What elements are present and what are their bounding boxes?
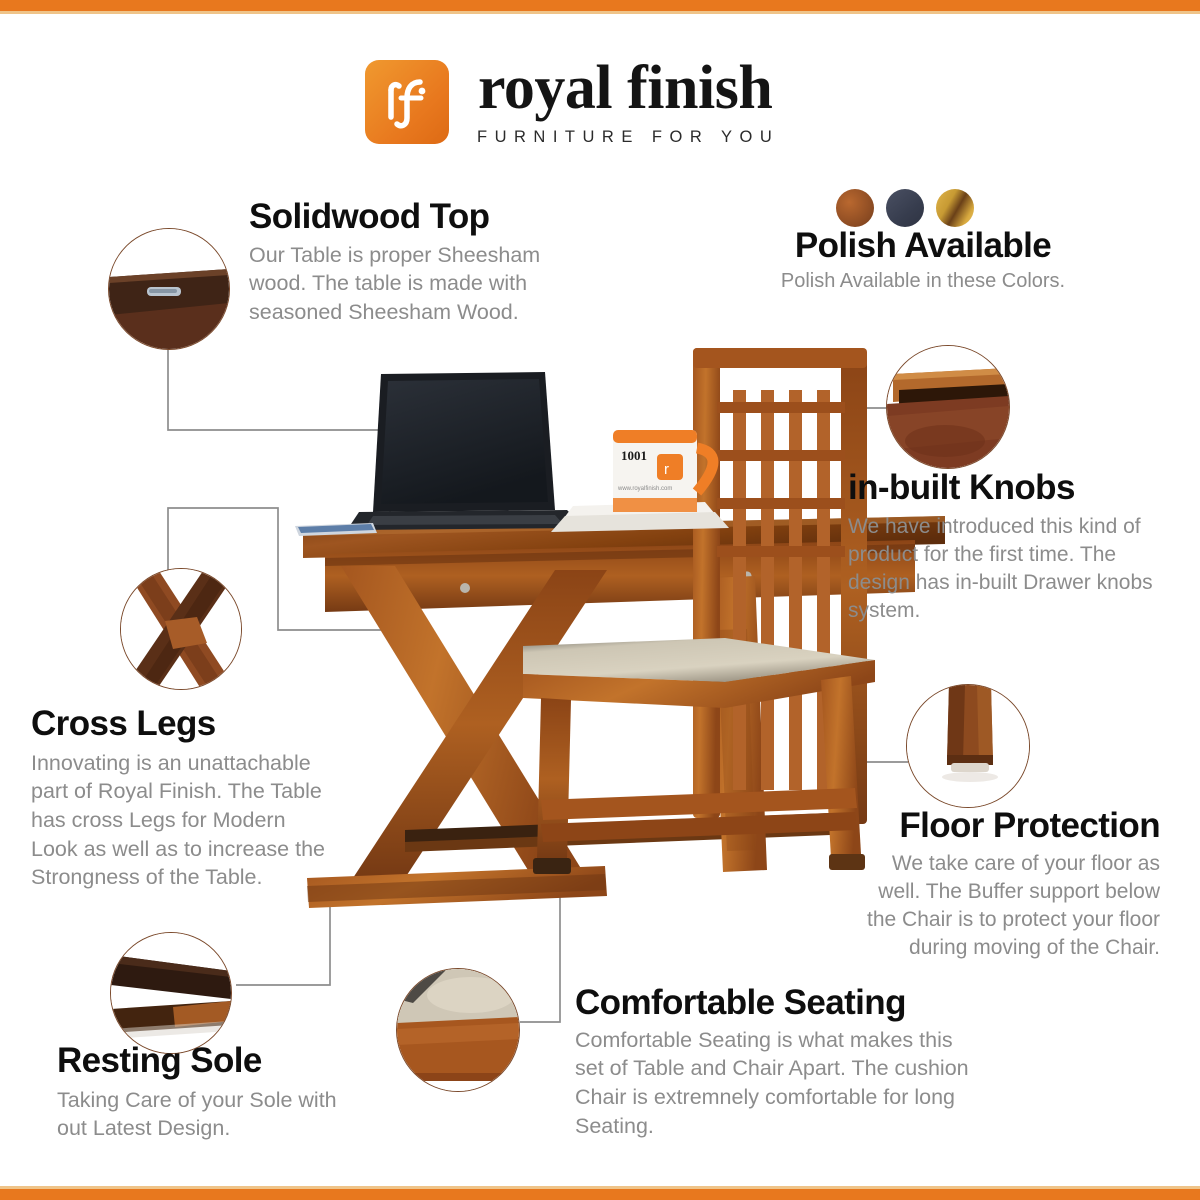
feature-body-polish: Polish Available in these Colors. [758,268,1088,295]
thumbnail-inbuilt-knobs [886,345,1010,469]
feature-title-solidwood: Solidwood Top [249,199,549,236]
feature-title-cross-legs: Cross Legs [31,706,331,743]
thumbnail-resting-sole [110,932,232,1054]
feature-body-solidwood: Our Table is proper Sheesham wood. The t… [249,241,549,327]
feature-block-solidwood: Solidwood Top Our Table is proper Sheesh… [249,199,549,327]
thumbnail-comfortable-seating [396,968,520,1092]
feature-block-knobs: in-built Knobs We have introduced this k… [848,470,1168,624]
top-border-bar [0,0,1200,11]
svg-text:1001: 1001 [621,448,647,463]
feature-title-resting-sole: Resting Sole [57,1043,357,1080]
feature-block-comfortable-seating: Comfortable Seating Comfortable Seating … [575,985,975,1140]
brand-tagline: FURNITURE FOR YOU [471,128,779,147]
bottom-border-bar [0,1189,1200,1200]
feature-body-cross-legs: Innovating is an unattachable part of Ro… [31,749,331,892]
brand-logo: royal finish FURNITURE FOR YOU [365,58,779,147]
thumbnail-floor-protection [906,684,1030,808]
feature-title-floor-protection: Floor Protection [845,808,1160,845]
feature-title-knobs: in-built Knobs [848,470,1168,507]
infographic-page: royal finish FURNITURE FOR YOU [0,0,1200,1200]
svg-text:www.royalfinish.com: www.royalfinish.com [617,486,672,492]
feature-body-resting-sole: Taking Care of your Sole with out Latest… [57,1086,357,1143]
feature-title-comfortable-seating: Comfortable Seating [575,985,975,1022]
polish-swatch-slate-charcoal[interactable] [886,189,924,227]
product-photo: r 1001 www.royalfinish.com [255,330,945,930]
feature-block-cross-legs: Cross Legs Innovating is an unattachable… [31,706,331,892]
polish-swatch-row [836,189,974,227]
feature-title-polish: Polish Available [758,228,1088,265]
svg-text:r: r [664,461,669,478]
top-border-hairline [0,11,1200,14]
feature-body-knobs: We have introduced this kind of product … [848,513,1168,625]
brand-name: royal finish [478,58,772,119]
rf-monogram-icon [365,60,449,144]
feature-block-polish: Polish Available Polish Available in the… [758,228,1088,294]
thumbnail-solidwood-top [108,228,230,350]
feature-block-floor-protection: Floor Protection We take care of your fl… [845,808,1160,961]
thumbnail-cross-legs [120,568,242,690]
polish-swatch-rosewood-brown[interactable] [836,189,874,227]
feature-block-resting-sole: Resting Sole Taking Care of your Sole wi… [57,1043,357,1143]
polish-swatch-honey-teak[interactable] [936,189,974,227]
feature-body-comfortable-seating: Comfortable Seating is what makes this s… [575,1026,975,1140]
feature-body-floor-protection: We take care of your floor as well. The … [845,850,1160,962]
